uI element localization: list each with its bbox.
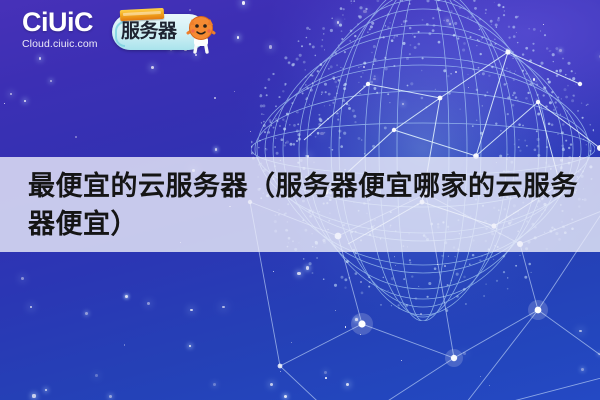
badge-label: 服务器 (121, 22, 177, 42)
promotional-banner: CiUiC Cloud.ciuic.com 服务器 最便 (0, 0, 600, 400)
brand-logo[interactable]: CiUiC Cloud.ciuic.com (22, 8, 112, 50)
page-title: 最便宜的云服务器（服务器便宜哪家的云服务器便宜） (28, 167, 584, 243)
server-badge: 服务器 (112, 14, 207, 50)
ribbon-decoration-icon (120, 8, 165, 21)
cartoon-mascot-icon (180, 11, 222, 55)
title-overlay-band: 最便宜的云服务器（服务器便宜哪家的云服务器便宜） (0, 157, 600, 252)
logo-wordmark: CiUiC (22, 8, 112, 36)
logo-domain: Cloud.ciuic.com (22, 38, 112, 50)
